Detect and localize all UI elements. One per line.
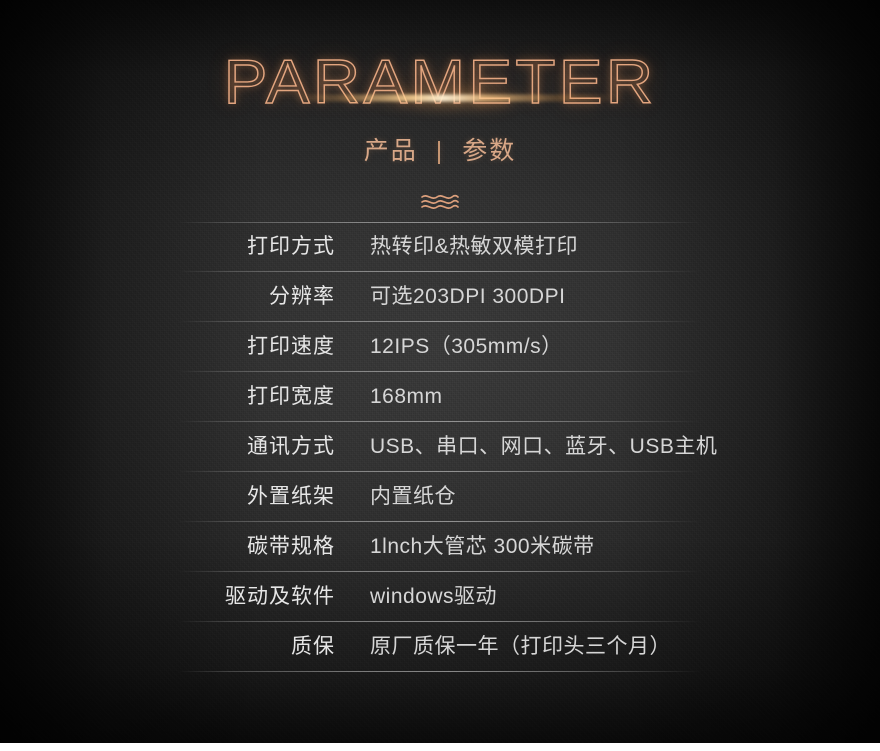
spec-value: windows驱动 — [370, 584, 497, 610]
spec-label: 碳带规格 — [0, 534, 335, 560]
page-title-wrapper: PARAMETER — [0, 48, 880, 130]
row-divider — [178, 222, 702, 223]
page-subtitle-left: 产品 — [364, 137, 418, 165]
spec-label: 驱动及软件 — [0, 584, 335, 610]
spec-label: 分辨率 — [0, 284, 335, 310]
wave-divider-icon — [0, 192, 880, 212]
bottom-white-strip — [0, 743, 880, 751]
spec-value: 1lnch大管芯 300米碳带 — [370, 534, 595, 560]
specification-table: 打印方式 热转印&热敏双模打印 分辨率 可选203DPI 300DPI 打印速度… — [0, 222, 880, 672]
row-divider — [178, 671, 702, 672]
spec-label: 打印速度 — [0, 334, 335, 360]
table-row: 驱动及软件 windows驱动 — [0, 572, 880, 622]
page-subtitle-separator: | — [436, 134, 445, 168]
spec-label: 打印宽度 — [0, 384, 335, 410]
page-subtitle: 产品 | 参数 — [0, 134, 880, 168]
table-row: 分辨率 可选203DPI 300DPI — [0, 272, 880, 322]
spec-label: 外置纸架 — [0, 484, 335, 510]
table-row: 碳带规格 1lnch大管芯 300米碳带 — [0, 522, 880, 572]
spec-label: 通讯方式 — [0, 434, 335, 460]
page-title: PARAMETER — [0, 48, 880, 118]
spec-value: 原厂质保一年（打印头三个月） — [370, 634, 671, 660]
spec-value: 12IPS（305mm/s） — [370, 334, 563, 360]
spec-value: 可选203DPI 300DPI — [370, 284, 565, 310]
table-row: 打印宽度 168mm — [0, 372, 880, 422]
spec-value: 168mm — [370, 384, 443, 410]
table-row: 通讯方式 USB、串口、网口、蓝牙、USB主机 — [0, 422, 880, 472]
spec-value: 内置纸仓 — [370, 484, 456, 510]
table-row: 打印方式 热转印&热敏双模打印 — [0, 222, 880, 272]
page-header: PARAMETER 产品 | 参数 — [0, 0, 880, 212]
table-row: 质保 原厂质保一年（打印头三个月） — [0, 622, 880, 672]
spec-value: 热转印&热敏双模打印 — [370, 234, 578, 260]
product-parameter-page: PARAMETER 产品 | 参数 打印方式 热转印&热敏双模打印 — [0, 0, 880, 751]
table-row: 打印速度 12IPS（305mm/s） — [0, 322, 880, 372]
spec-label: 打印方式 — [0, 234, 335, 260]
spec-value: USB、串口、网口、蓝牙、USB主机 — [370, 434, 717, 460]
table-row: 外置纸架 内置纸仓 — [0, 472, 880, 522]
spec-label: 质保 — [0, 634, 335, 660]
page-subtitle-right: 参数 — [462, 137, 516, 165]
